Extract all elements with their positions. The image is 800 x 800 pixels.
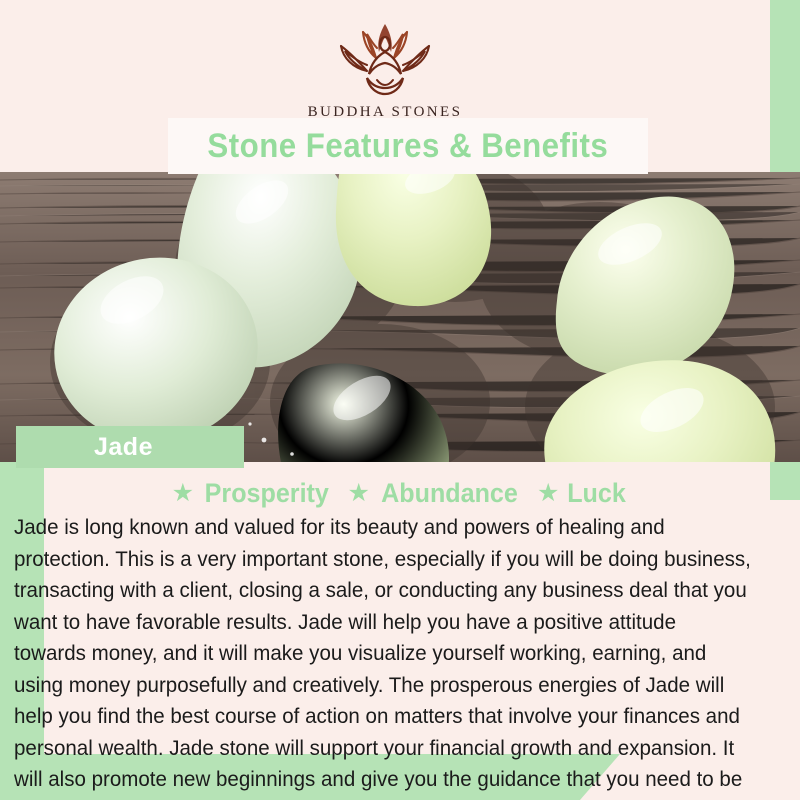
star-icon: ★ <box>172 481 194 506</box>
benefit-label: Luck <box>568 478 627 509</box>
benefit-item: ★ Luck <box>537 478 628 509</box>
stone-name-banner: Jade <box>16 426 244 468</box>
star-icon: ★ <box>537 481 559 506</box>
lotus-meditation-icon <box>319 18 451 100</box>
stone-name: Jade <box>94 433 153 462</box>
benefit-label: Prosperity <box>205 478 329 509</box>
benefits-row: ★ Prosperity ★ Abundance ★ Luck <box>0 478 800 509</box>
stone-photo-image <box>0 172 800 462</box>
benefit-item: ★ Abundance <box>348 478 523 509</box>
stone-photo <box>0 172 800 462</box>
title-banner: Stone Features & Benefits <box>168 118 648 174</box>
star-icon: ★ <box>348 481 370 506</box>
stone-benefits-infographic: BUDDHA STONES Stone Features & Benefits <box>0 0 800 800</box>
stone-description: Jade is long known and valued for its be… <box>14 512 751 800</box>
page-title: Stone Features & Benefits <box>208 127 609 166</box>
brand-logo: BUDDHA STONES <box>0 18 770 121</box>
benefit-item: ★ Prosperity <box>172 478 334 509</box>
benefit-label: Abundance <box>381 478 518 509</box>
